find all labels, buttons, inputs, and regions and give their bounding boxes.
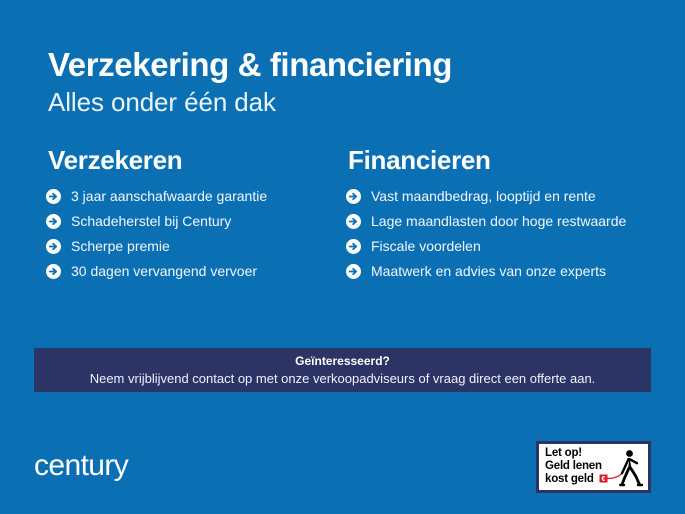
slide-canvas: Verzekering & financiering Alles onder é… [0, 0, 685, 514]
list-item: 30 dagen vervangend vervoer [48, 262, 334, 280]
list-item-label: Maatwerk en advies van onze experts [371, 263, 606, 279]
arrow-right-circle-icon [46, 239, 61, 254]
credit-warning-line-2: Geld lenen [545, 460, 602, 473]
page-subtitle: Alles onder één dak [48, 88, 648, 118]
column-financieren: Financieren Vast maandbedrag, looptijd e… [334, 146, 654, 287]
column-verzekeren: Verzekeren 3 jaar aanschafwaarde garanti… [34, 146, 334, 287]
arrow-right-circle-icon [346, 214, 361, 229]
list-item-label: Vast maandbedrag, looptijd en rente [371, 188, 596, 204]
list-item: Fiscale voordelen [348, 237, 654, 255]
list-item: Schadeherstel bij Century [48, 212, 334, 230]
list-item: Scherpe premie [48, 237, 334, 255]
cta-title: Geïnteresseerd? [295, 354, 390, 369]
page-title: Verzekering & financiering [48, 48, 648, 83]
feature-list-verzekeren: 3 jaar aanschafwaarde garantie Schadeher… [48, 187, 334, 280]
credit-warning-inner: Let op! Geld lenen kost geld € [539, 444, 648, 490]
arrow-right-circle-icon [46, 264, 61, 279]
list-item: Maatwerk en advies van onze experts [348, 262, 654, 280]
cta-banner: Geïnteresseerd? Neem vrijblijvend contac… [34, 348, 651, 392]
arrow-right-circle-icon [346, 189, 361, 204]
arrow-right-circle-icon [46, 189, 61, 204]
century-logo: century [34, 449, 128, 483]
credit-warning-text: Let op! Geld lenen kost geld [545, 447, 602, 487]
feature-list-financieren: Vast maandbedrag, looptijd en rente Lage… [348, 187, 654, 280]
walking-person-pulling-money-block-icon: € [598, 447, 646, 489]
list-item: Vast maandbedrag, looptijd en rente [348, 187, 654, 205]
list-item-label: Scherpe premie [71, 238, 170, 254]
list-item-label: Fiscale voordelen [371, 238, 481, 254]
list-item-label: 30 dagen vervangend vervoer [71, 263, 257, 279]
list-item-label: Lage maandlasten door hoge restwaarde [371, 213, 626, 229]
list-item-label: Schadeherstel bij Century [71, 213, 231, 229]
credit-warning-line-3: kost geld [545, 473, 602, 486]
cta-subtitle: Neem vrijblijvend contact op met onze ve… [90, 370, 596, 387]
credit-warning-line-1: Let op! [545, 447, 602, 460]
arrow-right-circle-icon [46, 214, 61, 229]
list-item: 3 jaar aanschafwaarde garantie [48, 187, 334, 205]
column-heading-financieren: Financieren [348, 146, 654, 175]
svg-text:€: € [602, 476, 606, 483]
arrow-right-circle-icon [346, 264, 361, 279]
feature-columns: Verzekeren 3 jaar aanschafwaarde garanti… [34, 146, 654, 287]
list-item: Lage maandlasten door hoge restwaarde [348, 212, 654, 230]
arrow-right-circle-icon [346, 239, 361, 254]
column-heading-verzekeren: Verzekeren [48, 146, 334, 175]
list-item-label: 3 jaar aanschafwaarde garantie [71, 188, 267, 204]
title-block: Verzekering & financiering Alles onder é… [48, 48, 648, 118]
credit-warning-box: Let op! Geld lenen kost geld € [536, 441, 651, 493]
